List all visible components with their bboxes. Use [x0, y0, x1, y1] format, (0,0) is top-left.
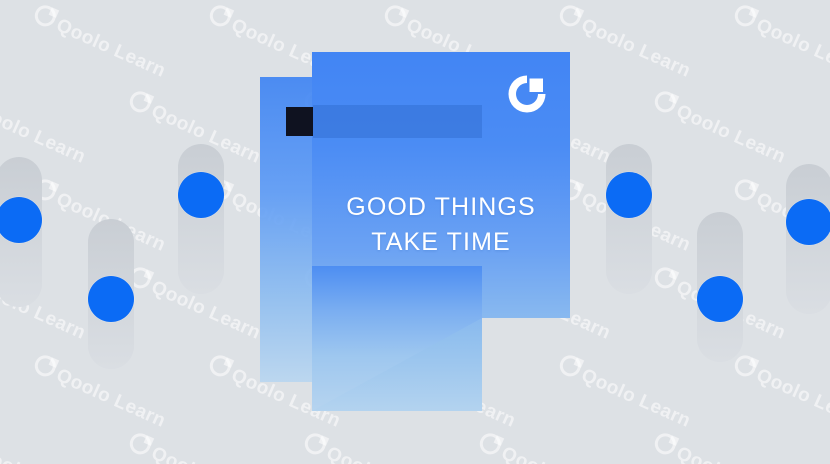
headline: GOOD THINGS TAKE TIME	[312, 190, 570, 260]
headline-line-1: GOOD THINGS	[312, 190, 570, 225]
headline-line-2: TAKE TIME	[312, 225, 570, 260]
card-stack: GOOD THINGS TAKE TIME	[0, 0, 830, 464]
dark-accent-square	[286, 107, 313, 136]
qoolo-logo-icon	[504, 71, 550, 117]
poster-canvas: Qoolo LearnQoolo LearnQoolo LearnQoolo L…	[0, 0, 830, 464]
header-placeholder-bar	[313, 105, 482, 138]
